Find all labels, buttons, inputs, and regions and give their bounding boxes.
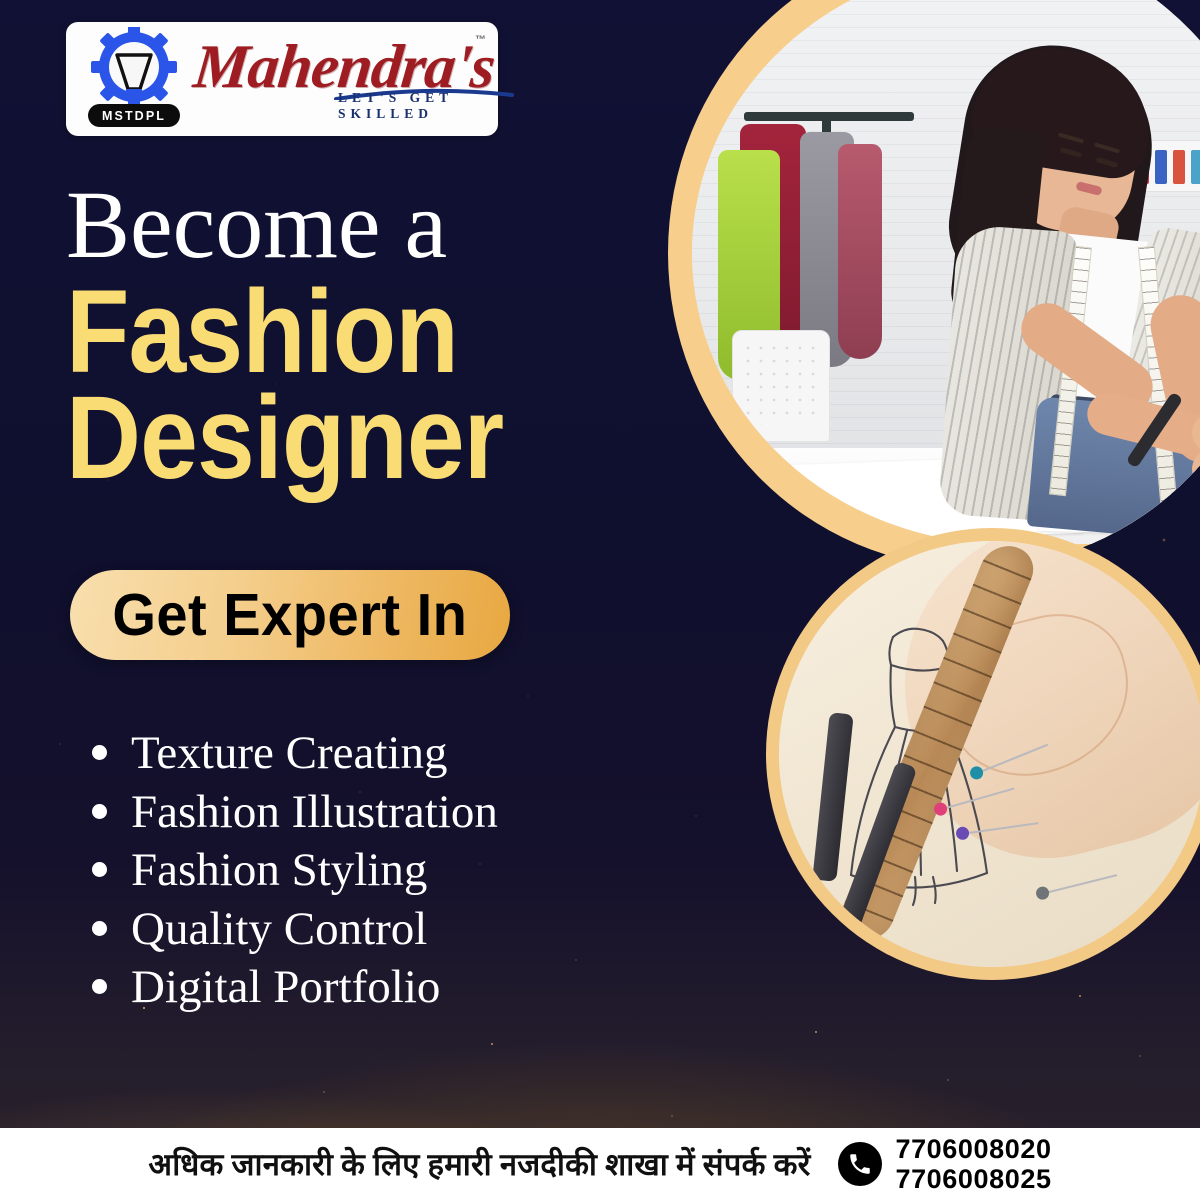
poster-canvas: MSTDPL Mahendra's ™ LET'S GET SKILLED Be… <box>0 0 1200 1200</box>
studio-chair <box>732 330 830 442</box>
top-photo-frame <box>668 0 1200 568</box>
headline-line-3: Designer <box>66 384 559 494</box>
mstdpl-badge: MSTDPL <box>88 104 180 127</box>
phone-number-1: 7706008020 <box>895 1134 1051 1164</box>
brand-logo: MSTDPL Mahendra's ™ LET'S GET SKILLED <box>66 22 498 136</box>
list-item: Fashion Styling <box>92 843 652 898</box>
bullet-icon <box>92 804 107 819</box>
phone-number-2: 7706008025 <box>895 1164 1051 1194</box>
phone-block[interactable]: 7706008020 7706008025 <box>838 1134 1051 1194</box>
list-item: Texture Creating <box>92 726 652 781</box>
bottom-photo-frame <box>766 528 1200 980</box>
list-item: Digital Portfolio <box>92 960 652 1015</box>
headline-line-1: Become a <box>66 178 626 272</box>
bullet-icon <box>92 745 107 760</box>
get-expert-in-button[interactable]: Get Expert In <box>70 570 510 660</box>
contact-footer: अधिक जानकारी के लिए हमारी नजदीकी शाखा मे… <box>0 1128 1200 1200</box>
skill-label: Texture Creating <box>131 726 447 781</box>
skill-label: Fashion Styling <box>131 843 427 898</box>
skills-list: Texture Creating Fashion Illustration Fa… <box>92 726 652 1019</box>
skill-label: Digital Portfolio <box>131 960 440 1015</box>
bullet-icon <box>92 862 107 877</box>
headline-block: Become a Fashion Designer <box>66 178 626 494</box>
bullet-icon <box>92 921 107 936</box>
skill-label: Quality Control <box>131 902 427 957</box>
phone-icon <box>838 1142 882 1186</box>
trademark-symbol: ™ <box>475 34 486 46</box>
designer-photo <box>692 0 1200 544</box>
skill-label: Fashion Illustration <box>131 785 498 840</box>
cta-label: Get Expert In <box>112 581 467 649</box>
bullet-icon <box>92 979 107 994</box>
brand-tagline: LET'S GET SKILLED <box>338 90 488 122</box>
footer-message: अधिक जानकारी के लिए हमारी नजदीकी शाखा मे… <box>148 1143 810 1185</box>
designer-figure <box>862 32 1200 512</box>
list-item: Quality Control <box>92 902 652 957</box>
sketch-closeup-photo <box>779 541 1200 967</box>
gear-bulb-icon: MSTDPL <box>80 29 188 129</box>
list-item: Fashion Illustration <box>92 785 652 840</box>
